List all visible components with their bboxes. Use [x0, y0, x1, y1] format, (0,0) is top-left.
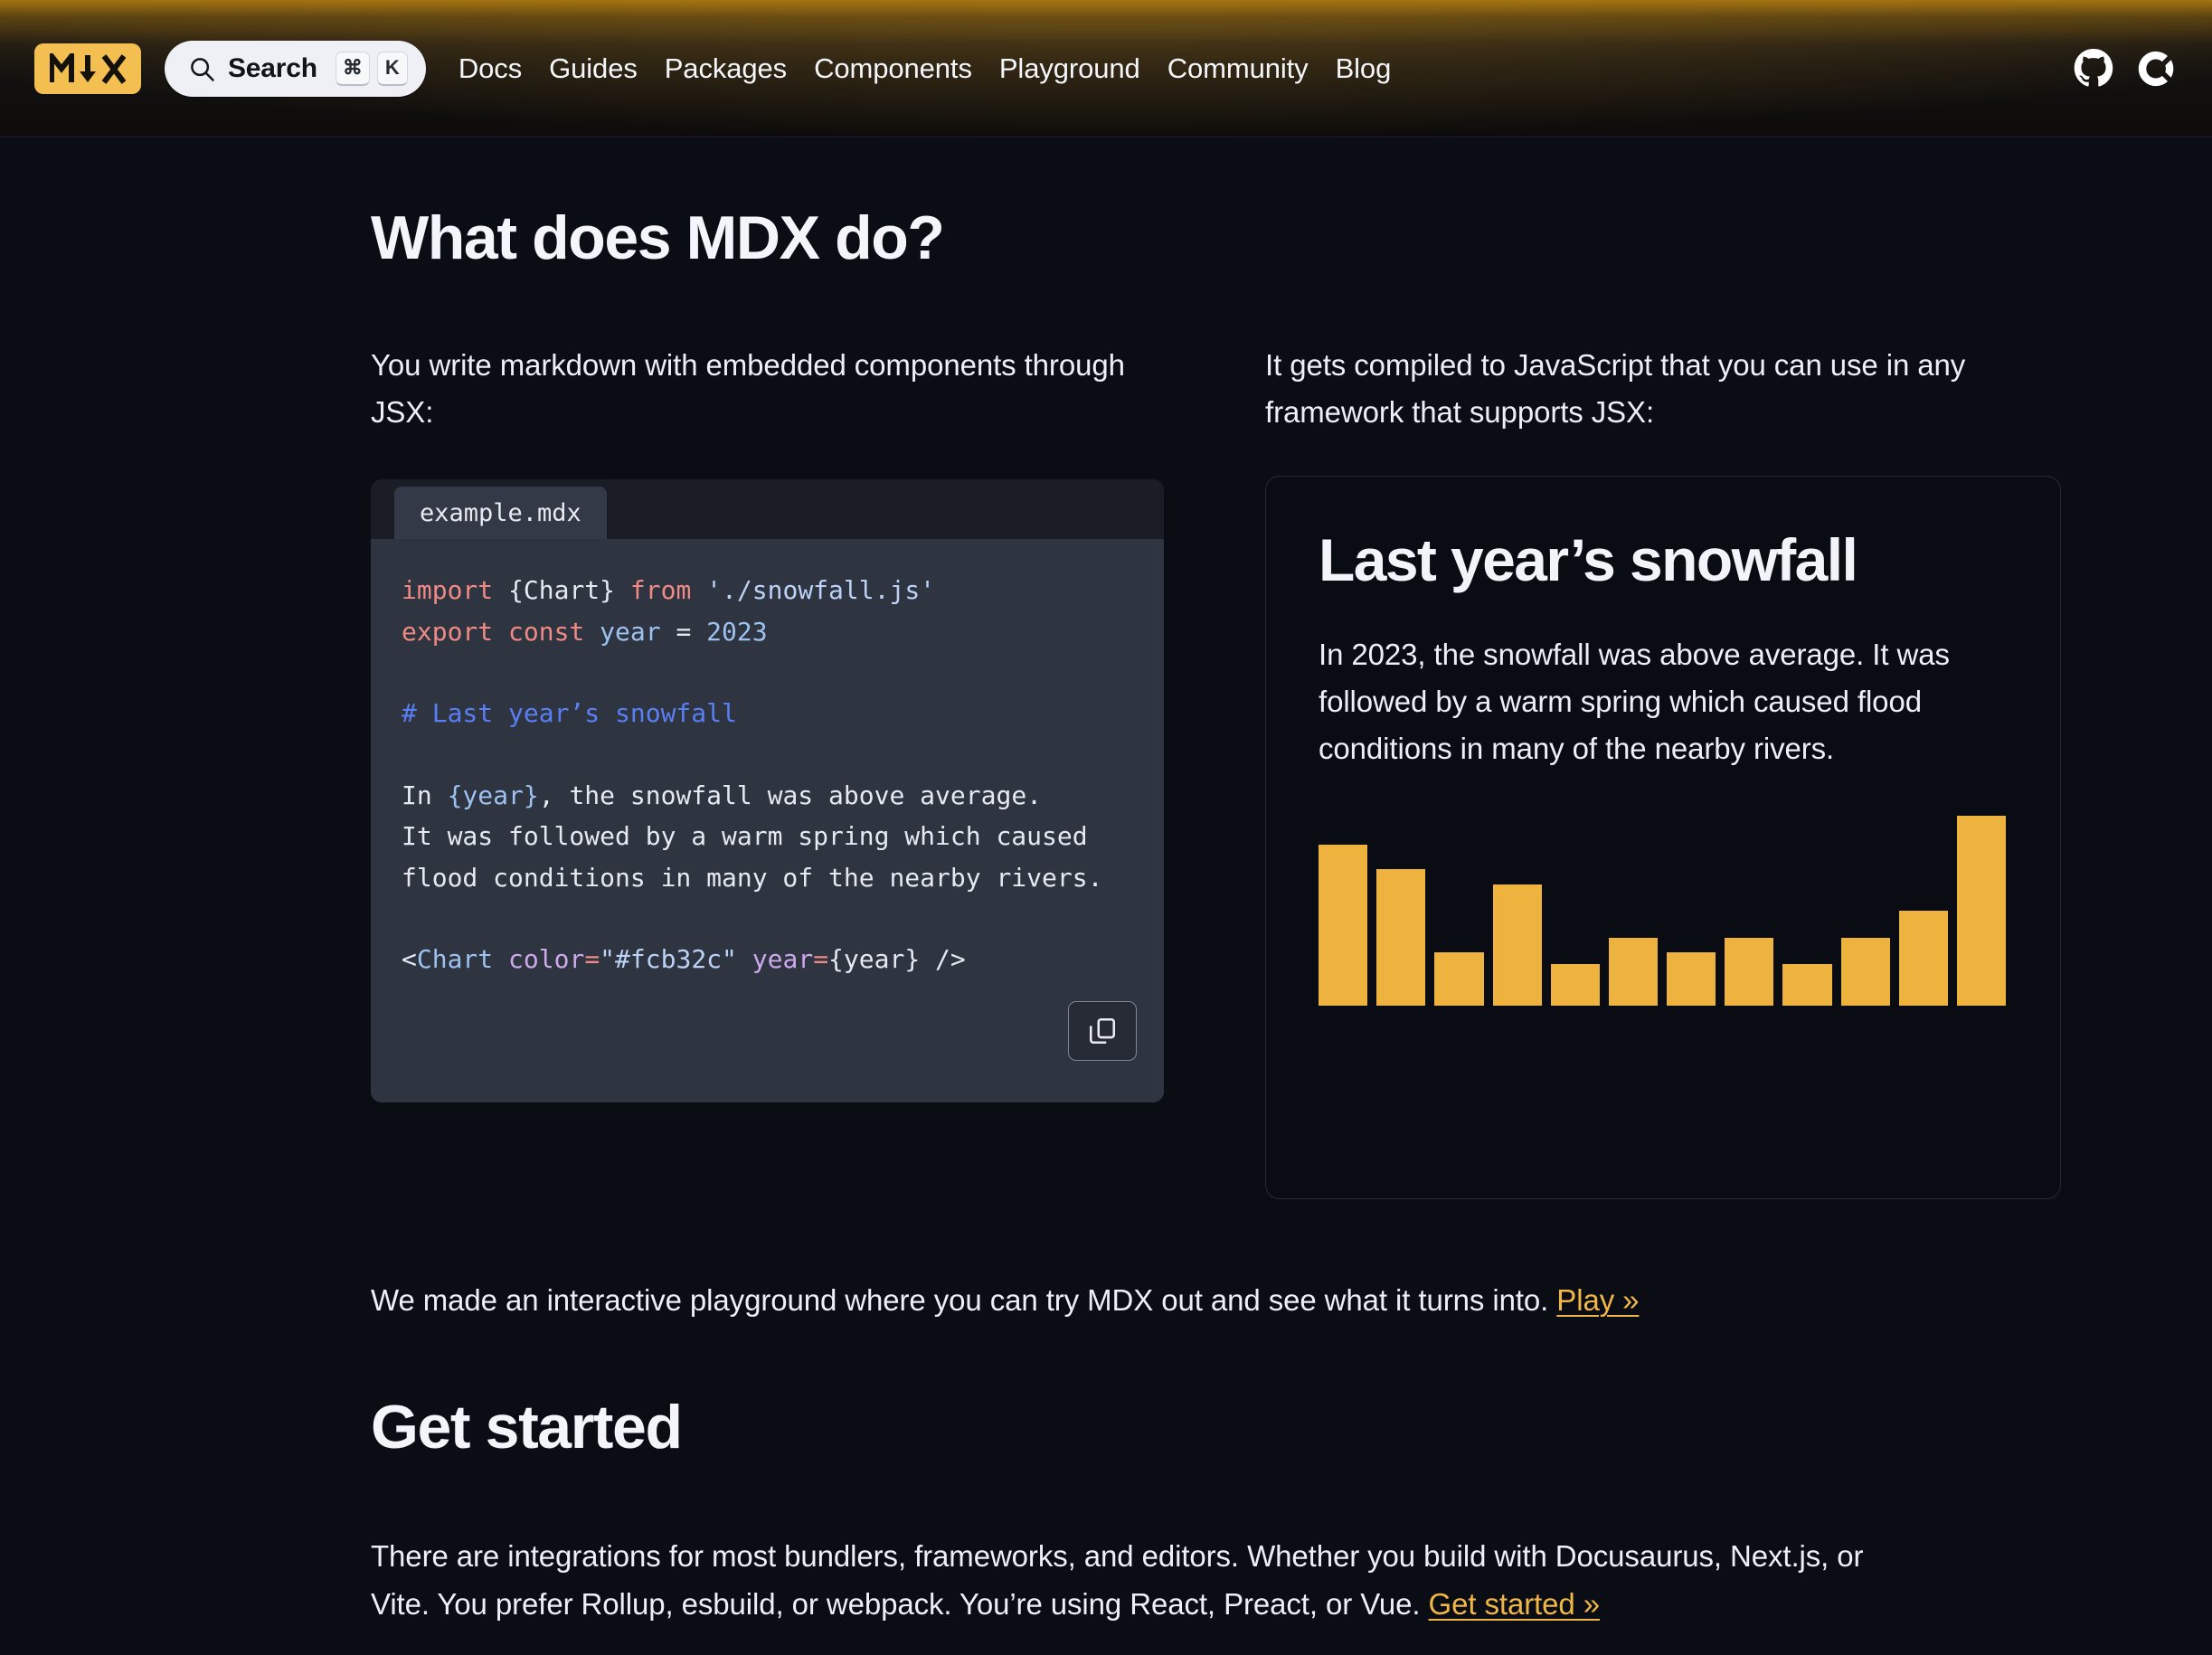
code-token-from: from: [630, 575, 691, 605]
bar-2: [1376, 869, 1425, 1006]
nav-item-components[interactable]: Components: [814, 52, 972, 85]
code-token-jsx-selfclose: />: [920, 944, 966, 974]
kbd-command: ⌘: [336, 52, 370, 86]
bar-4: [1493, 884, 1542, 1006]
search-icon: [188, 55, 215, 82]
preview-heading: Last year’s snowfall: [1319, 527, 2006, 593]
play-link[interactable]: Play »: [1556, 1283, 1639, 1317]
code-token-2023: 2023: [706, 617, 767, 647]
playground-paragraph: We made an interactive playground where …: [371, 1277, 1879, 1325]
open-collective-link[interactable]: [2134, 48, 2176, 90]
right-column: It gets compiled to JavaScript that you …: [1265, 342, 2061, 1199]
bar-1: [1319, 845, 1367, 1007]
code-tab-bar: example.mdx: [371, 479, 1164, 539]
bar-7: [1667, 952, 1716, 1006]
code-token-year-value: {year}: [828, 944, 920, 974]
playground-text: We made an interactive playground where …: [371, 1283, 1556, 1317]
code-token-import: import: [402, 575, 493, 605]
code-token-color-value: "#fcb32c": [600, 944, 737, 974]
kbd-k: K: [377, 52, 408, 86]
nav-item-blog[interactable]: Blog: [1336, 52, 1392, 85]
code-token-export-const: export const: [402, 617, 600, 647]
header-icon-links: [2073, 48, 2176, 90]
github-link[interactable]: [2073, 48, 2114, 90]
code-token-jsx-tag: Chart: [417, 944, 493, 974]
search-button[interactable]: Search ⌘ K: [165, 41, 426, 97]
nav-item-packages[interactable]: Packages: [665, 52, 787, 85]
left-column: You write markdown with embedded compone…: [371, 342, 1164, 1199]
code-token-year-ident: year: [600, 617, 660, 647]
code-token-assign: =: [661, 617, 707, 647]
page-title: What does MDX do?: [371, 203, 1879, 273]
bar-8: [1725, 938, 1773, 1007]
code-token-prose-1b: , the snowfall was above average.: [539, 780, 1042, 810]
mdx-logo-glyph: [50, 53, 126, 84]
right-lede: It gets compiled to JavaScript that you …: [1265, 342, 2061, 436]
get-started-link[interactable]: Get started »: [1429, 1587, 1600, 1621]
code-tab-example-mdx[interactable]: example.mdx: [394, 487, 607, 539]
nav-item-community[interactable]: Community: [1167, 52, 1309, 85]
nav-item-guides[interactable]: Guides: [549, 52, 638, 85]
code-token-prose-2: It was followed by a warm spring which c…: [402, 821, 1088, 851]
code-token-year-expr: {year}: [448, 780, 539, 810]
code-token-chart-binding: {Chart}: [493, 575, 630, 605]
snowfall-bar-chart: [1319, 816, 2006, 1006]
bar-9: [1782, 964, 1831, 1006]
nav-item-docs[interactable]: Docs: [458, 52, 522, 85]
preview-paragraph: In 2023, the snowfall was above average.…: [1319, 631, 2006, 772]
bar-12: [1957, 816, 2006, 1006]
code-card: example.mdx import {Chart} from './snowf…: [371, 479, 1164, 1102]
copy-icon: [1087, 1016, 1118, 1046]
code-token-jsx-open: <: [402, 944, 417, 974]
code-token-prose-3: flood conditions in many of the nearby r…: [402, 863, 1102, 893]
bar-3: [1434, 952, 1483, 1006]
bar-10: [1841, 938, 1890, 1007]
code-token-attr-color: color: [493, 944, 584, 974]
code-token-attr-eq-2: =: [813, 944, 828, 974]
bar-6: [1609, 938, 1658, 1007]
code-token-module-path: './snowfall.js': [691, 575, 935, 605]
code-token-attr-year: year: [737, 944, 813, 974]
mdx-logo[interactable]: [34, 43, 141, 94]
left-lede: You write markdown with embedded compone…: [371, 342, 1164, 436]
integrations-paragraph: There are integrations for most bundlers…: [371, 1533, 1879, 1629]
copy-code-button[interactable]: [1068, 1001, 1137, 1061]
bar-11: [1899, 911, 1948, 1006]
intro-columns: You write markdown with embedded compone…: [371, 342, 1879, 1199]
code-token-markdown-heading: # Last year’s snowfall: [402, 698, 737, 728]
site-header: Search ⌘ K Docs Guides Packages Componen…: [0, 0, 2212, 137]
nav-item-playground[interactable]: Playground: [999, 52, 1140, 85]
code-block[interactable]: import {Chart} from './snowfall.js' expo…: [371, 539, 1164, 1102]
github-icon: [2073, 48, 2114, 90]
bar-5: [1551, 964, 1600, 1006]
search-shortcut: ⌘ K: [336, 52, 408, 86]
open-collective-icon: [2134, 48, 2176, 90]
code-token-attr-eq-1: =: [584, 944, 600, 974]
code-token-prose-1a: In: [402, 780, 448, 810]
get-started-title: Get started: [371, 1392, 1879, 1462]
integrations-text: There are integrations for most bundlers…: [371, 1539, 1863, 1621]
main-nav: Docs Guides Packages Components Playgrou…: [458, 52, 2073, 85]
main-content: What does MDX do? You write markdown wit…: [0, 203, 2212, 1629]
preview-card: Last year’s snowfall In 2023, the snowfa…: [1265, 476, 2061, 1199]
search-label: Search: [228, 53, 317, 84]
